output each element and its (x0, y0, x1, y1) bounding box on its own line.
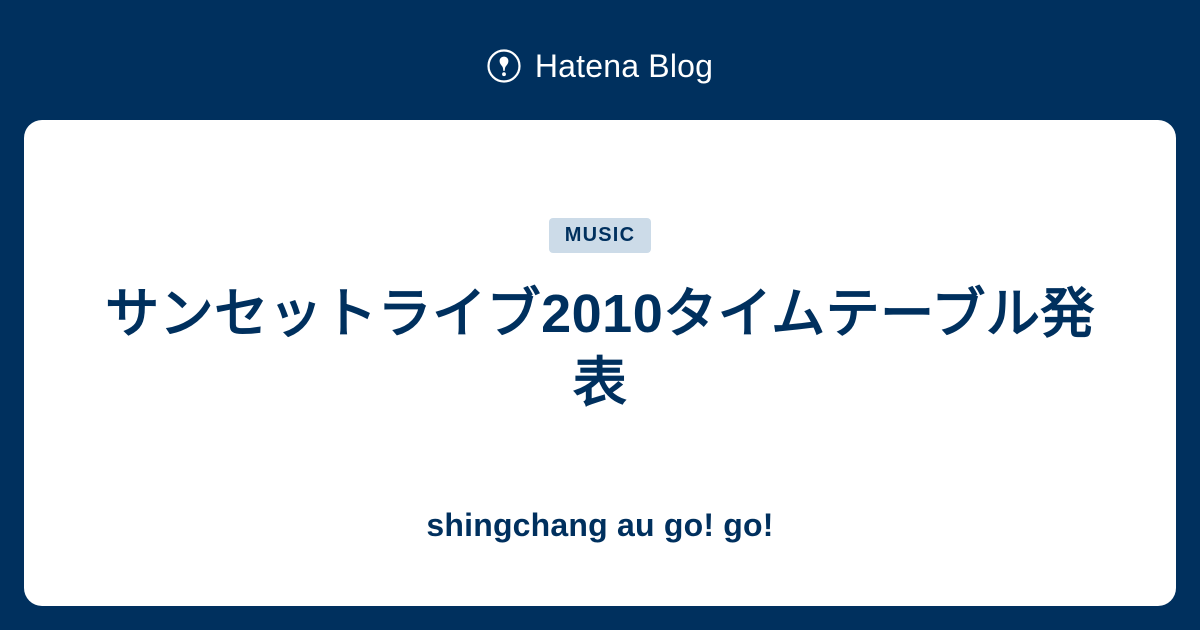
hatena-blog-logo-icon (487, 49, 521, 83)
category-badge[interactable]: MUSIC (549, 218, 651, 253)
blog-title: shingchang au go! go! (24, 506, 1176, 544)
category-row: MUSIC (24, 218, 1176, 253)
entry-card: MUSIC サンセットライブ2010タイムテーブル発表 shingchang a… (24, 120, 1176, 606)
og-image-canvas: Hatena Blog MUSIC サンセットライブ2010タイムテーブル発表 … (0, 0, 1200, 630)
entry-title: サンセットライブ2010タイムテーブル発表 (24, 280, 1176, 418)
hatena-blog-wordmark: Hatena Blog (535, 49, 713, 83)
hatena-blog-brand: Hatena Blog (0, 38, 1200, 94)
entry-card-inner: MUSIC サンセットライブ2010タイムテーブル発表 shingchang a… (24, 120, 1176, 606)
